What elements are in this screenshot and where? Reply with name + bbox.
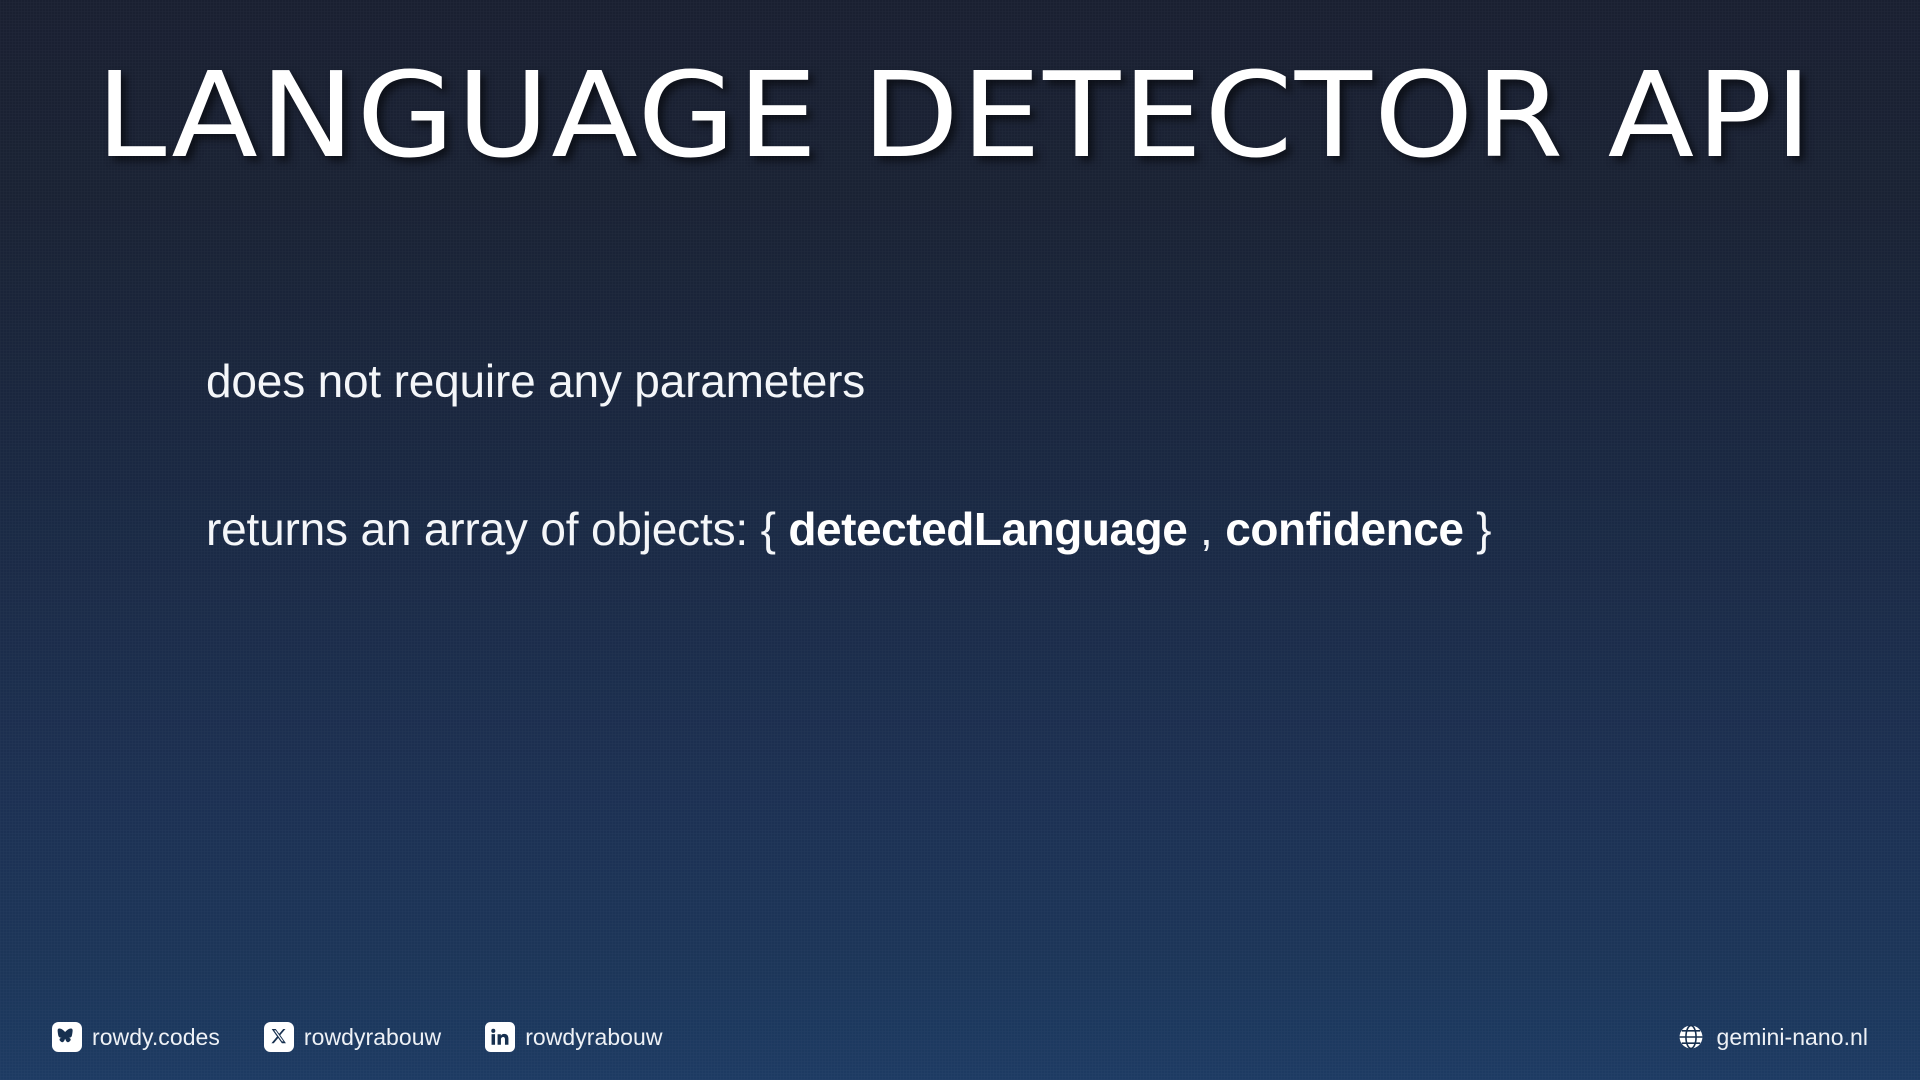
slide-body: does not require any parameters returns … [206, 352, 1706, 560]
body-line-return-shape: returns an array of objects: { detectedL… [206, 500, 1706, 560]
footer-link-linkedin-label: rowdyrabouw [525, 1024, 662, 1051]
globe-icon [1676, 1022, 1706, 1052]
bluesky-butterfly-icon [52, 1022, 82, 1052]
footer-link-website[interactable]: gemini-nano.nl [1676, 1022, 1868, 1052]
body-text-1-4: } [1463, 503, 1491, 555]
page-title: LANGUAGE DETECTOR API [96, 56, 1826, 186]
footer-website[interactable]: gemini-nano.nl [1676, 1022, 1868, 1052]
footer-link-bluesky[interactable]: rowdy.codes [52, 1022, 220, 1052]
footer-social-links: rowdy.codes rowdyrabouw rowdyrabouw [52, 1022, 663, 1052]
body-keyword-1-3: confidence [1225, 503, 1463, 555]
linkedin-icon [485, 1022, 515, 1052]
body-text-1-0: returns an array of objects: { [206, 503, 788, 555]
body-keyword-1-1: detectedLanguage [788, 503, 1187, 555]
footer-link-x-label: rowdyrabouw [304, 1024, 441, 1051]
footer: rowdy.codes rowdyrabouw rowdyrabouw [0, 994, 1920, 1080]
body-line-parameters: does not require any parameters [206, 352, 1706, 412]
page-title-text: LANGUAGE DETECTOR API [96, 46, 1814, 184]
body-text-1-2: , [1187, 503, 1225, 555]
footer-link-website-label: gemini-nano.nl [1716, 1024, 1868, 1051]
footer-link-linkedin[interactable]: rowdyrabouw [485, 1022, 662, 1052]
footer-link-bluesky-label: rowdy.codes [92, 1024, 220, 1051]
x-twitter-icon [264, 1022, 294, 1052]
footer-link-x[interactable]: rowdyrabouw [264, 1022, 441, 1052]
body-text-0-0: does not require any parameters [206, 355, 865, 407]
